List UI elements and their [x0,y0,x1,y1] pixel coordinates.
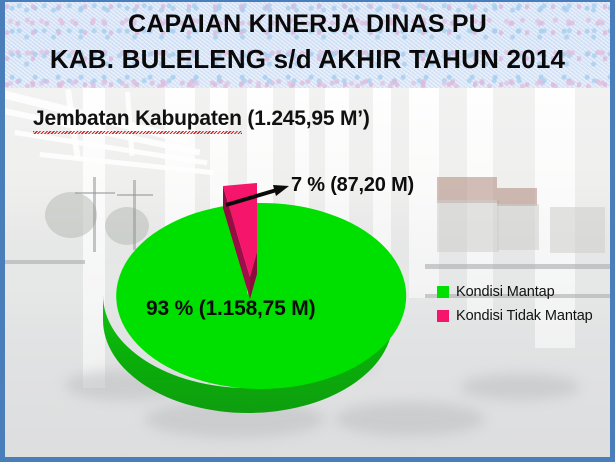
tree-foliage [105,207,149,245]
distant-building [550,207,605,253]
utility-pole [75,192,115,194]
pavement-shadow [235,354,375,376]
utility-pole [133,180,136,250]
distant-building [497,204,539,250]
chart-subtitle: Jembatan Kabupaten (1.245,95 M’) [33,107,370,131]
distant-building [437,200,499,252]
subtitle-amount: (1.245,95 M’) [242,107,370,130]
bridge-railing [425,264,610,269]
legend-label-mantap: Kondisi Mantap [456,284,555,300]
legend-item-tidak-mantap: Kondisi Tidak Mantap [437,304,593,328]
utility-pole [117,194,153,196]
legend-swatch-pink [437,310,449,322]
pie-data-label-green: 93 % (1.158,75 M) [146,297,315,321]
legend-label-tidak-mantap: Kondisi Tidak Mantap [456,308,593,324]
pavement-shadow [335,402,485,436]
title-line-1: CAPAIAN KINERJA DINAS PU [5,7,610,42]
utility-pole [93,177,96,252]
page-title: CAPAIAN KINERJA DINAS PU KAB. BULELENG s… [5,7,610,77]
callout-label: 7 % (87,20 M) [291,174,414,197]
pavement-shadow [145,400,325,438]
legend-swatch-green [437,286,449,298]
chart-legend: Kondisi Mantap Kondisi Tidak Mantap [437,280,593,328]
misspelled-text: Jembatan Kabupaten [33,107,242,131]
tree-foliage [45,192,97,238]
pavement-shadow [460,374,580,400]
slide-canvas: CAPAIAN KINERJA DINAS PU KAB. BULELENG s… [0,0,615,462]
legend-item-mantap: Kondisi Mantap [437,280,593,304]
bridge-railing [5,260,85,264]
pavement-shadow [65,370,185,400]
title-line-2: KAB. BULELENG s/d AKHIR TAHUN 2014 [5,42,610,77]
